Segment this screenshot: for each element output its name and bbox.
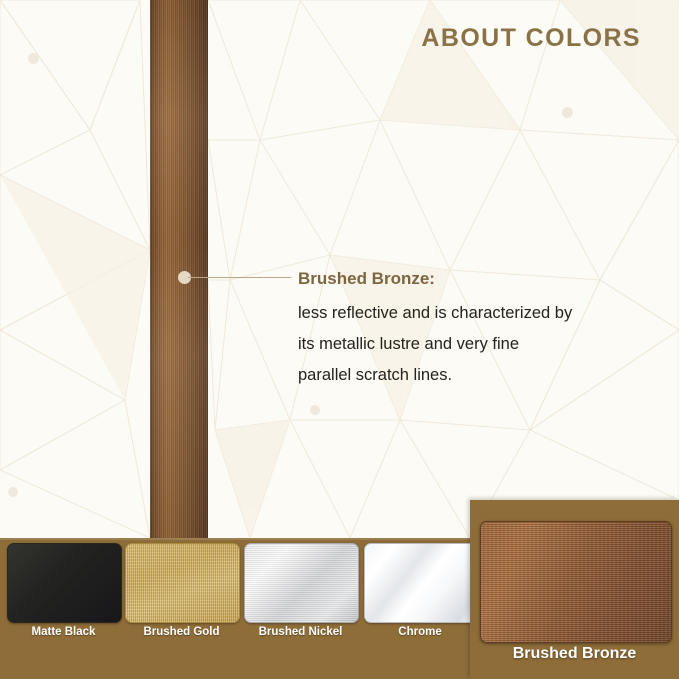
infographic-canvas: ABOUT COLORS Brushed Bronze: less reflec… [0,0,679,679]
description-line: less reflective and is characterized by [298,298,648,329]
description-line: its metallic lustre and very fine [298,329,648,360]
swatch-label-brushed-gold: Brushed Gold [125,626,238,638]
callout-leader-line [188,277,291,278]
product-finish-sample-bar [150,0,208,538]
background-dot [562,107,573,118]
page-title: ABOUT COLORS [421,24,641,53]
description-heading: Brushed Bronze: [298,266,648,291]
featured-swatch-panel[interactable]: Brushed Bronze [470,500,679,679]
swatch-label-chrome: Chrome [364,626,476,638]
background-dot [8,487,18,497]
swatch-matte-black[interactable] [7,543,122,623]
description-block: Brushed Bronze: less reflective and is c… [298,266,648,391]
description-body: less reflective and is characterized by … [298,298,648,391]
swatch-label-brushed-nickel: Brushed Nickel [244,626,357,638]
description-line: parallel scratch lines. [298,360,648,391]
swatch-brushed-nickel[interactable] [244,543,359,623]
swatch-chrome[interactable] [364,543,478,623]
swatch-label-brushed-bronze: Brushed Bronze [470,645,679,663]
swatch-brushed-bronze[interactable] [480,521,672,643]
swatch-brushed-gold[interactable] [125,543,240,623]
background-dot [310,405,320,415]
swatch-label-matte-black: Matte Black [7,626,120,638]
background-dot [28,53,39,64]
